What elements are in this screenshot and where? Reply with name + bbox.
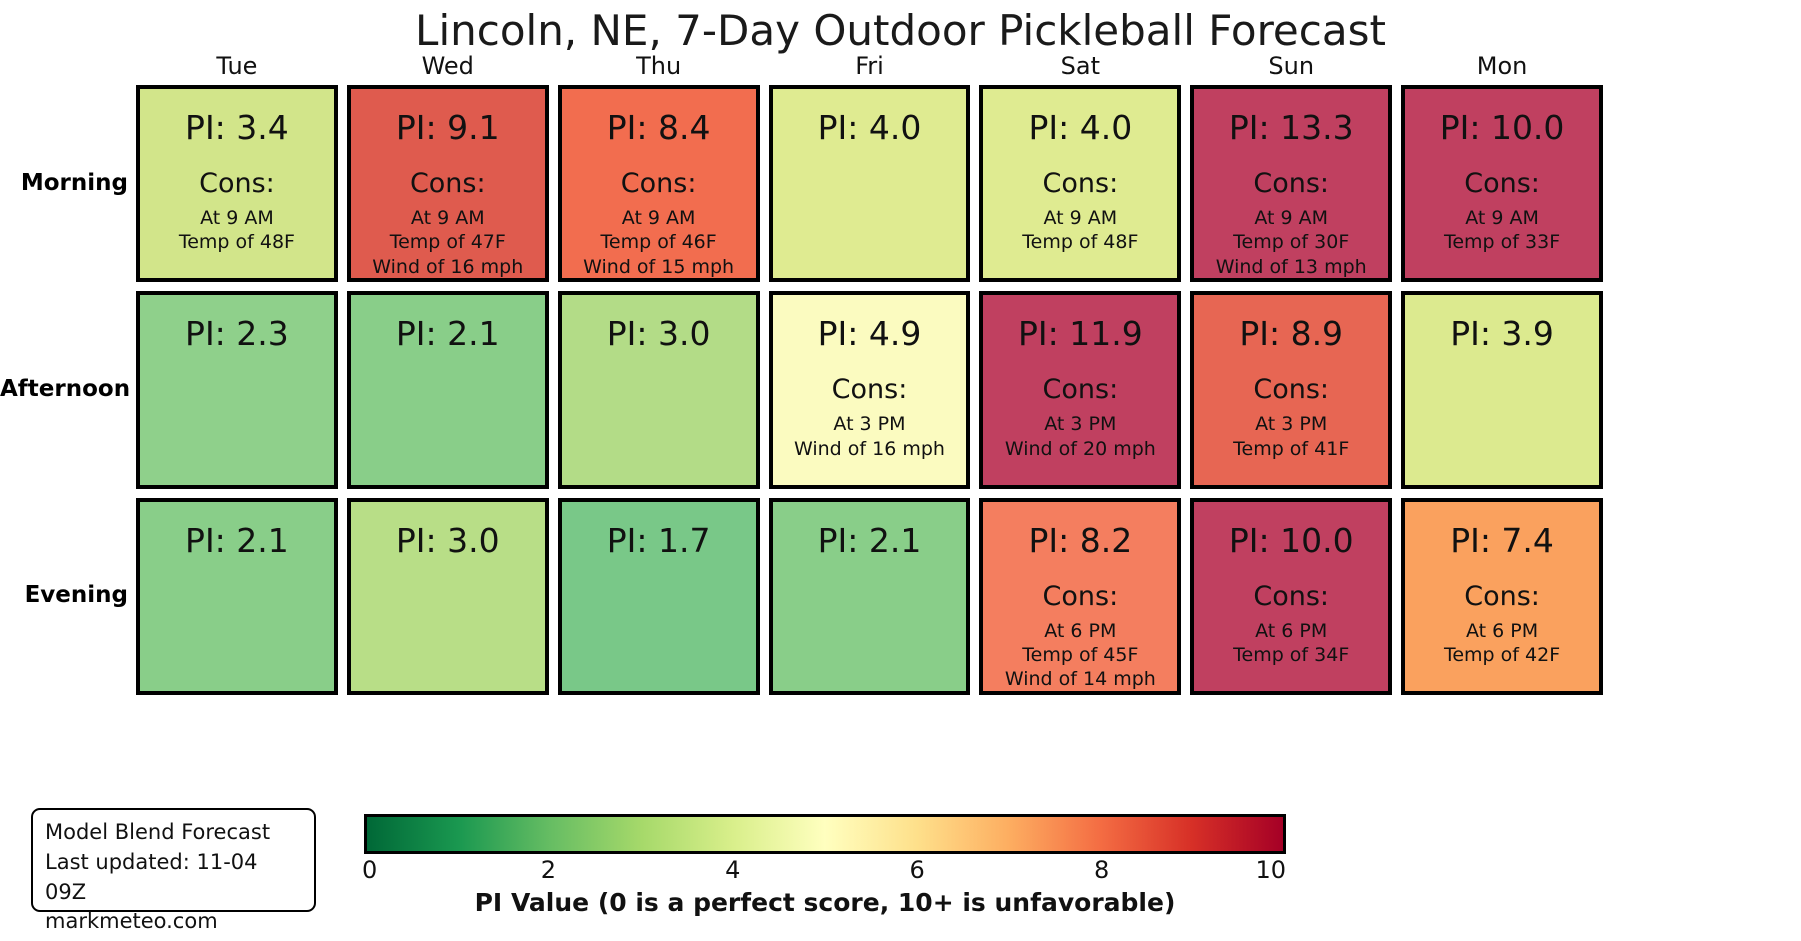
- forecast-cell[interactable]: PI: 3.4Cons:At 9 AMTemp of 48F: [136, 85, 338, 282]
- cell-cons-line: Temp of 34F: [1233, 643, 1349, 667]
- column-header-mon: Mon: [1401, 52, 1603, 80]
- cell-pi-value: PI: 8.2: [1028, 524, 1132, 557]
- colorbar-tick-2: 2: [541, 856, 556, 884]
- cell-cons-line: At 3 PM: [794, 412, 945, 436]
- cell-pi-value: PI: 2.1: [396, 317, 500, 350]
- cell-cons-line: Temp of 46F: [583, 230, 734, 254]
- cell-cons-line: Temp of 47F: [372, 230, 523, 254]
- cell-pi-value: PI: 11.9: [1018, 317, 1143, 350]
- cell-pi-value: PI: 4.0: [1028, 111, 1132, 144]
- cell-cons-line: At 9 AM: [1022, 206, 1138, 230]
- cell-cons-line: At 3 PM: [1233, 412, 1349, 436]
- cell-cons-line: Temp of 48F: [1022, 230, 1138, 254]
- cell-cons-lines: At 6 PMTemp of 34F: [1233, 619, 1349, 668]
- cell-cons-line: At 6 PM: [1233, 619, 1349, 643]
- cell-cons-line: Wind of 16 mph: [794, 437, 945, 461]
- row-header-morning: Morning: [0, 170, 128, 196]
- colorbar-tick-10: 10: [1255, 856, 1286, 884]
- cell-cons-line: Wind of 13 mph: [1216, 255, 1367, 279]
- cell-cons-lines: At 6 PMTemp of 42F: [1444, 619, 1560, 668]
- cell-cons-title: Cons:: [1464, 170, 1540, 197]
- cell-cons-line: Temp of 33F: [1444, 230, 1560, 254]
- column-header-thu: Thu: [558, 52, 760, 80]
- column-header-wed: Wed: [347, 52, 549, 80]
- forecast-cell[interactable]: PI: 2.1: [769, 498, 971, 695]
- cell-cons-title: Cons:: [832, 376, 908, 403]
- cell-cons-title: Cons:: [1464, 583, 1540, 610]
- forecast-cell[interactable]: PI: 1.7: [558, 498, 760, 695]
- cell-pi-value: PI: 3.0: [607, 317, 711, 350]
- forecast-cell[interactable]: PI: 4.0Cons:At 9 AMTemp of 48F: [979, 85, 1181, 282]
- cell-cons-line: Temp of 30F: [1216, 230, 1367, 254]
- forecast-cell[interactable]: PI: 11.9Cons:At 3 PMWind of 20 mph: [979, 291, 1181, 488]
- cell-cons-line: Wind of 20 mph: [1005, 437, 1156, 461]
- cell-cons-line: Temp of 42F: [1444, 643, 1560, 667]
- forecast-cell[interactable]: PI: 3.9: [1401, 291, 1603, 488]
- colorbar-gradient: [364, 814, 1286, 854]
- cell-pi-value: PI: 10.0: [1229, 524, 1354, 557]
- cell-pi-value: PI: 8.4: [607, 111, 711, 144]
- forecast-cell[interactable]: PI: 13.3Cons:At 9 AMTemp of 30FWind of 1…: [1190, 85, 1392, 282]
- forecast-cell[interactable]: PI: 8.2Cons:At 6 PMTemp of 45FWind of 14…: [979, 498, 1181, 695]
- cell-cons-line: At 6 PM: [1005, 619, 1156, 643]
- cell-cons-line: At 9 AM: [583, 206, 734, 230]
- cell-cons-lines: At 9 AMTemp of 46FWind of 15 mph: [583, 206, 734, 279]
- cell-pi-value: PI: 3.0: [396, 524, 500, 557]
- cell-pi-value: PI: 1.7: [607, 524, 711, 557]
- forecast-cell[interactable]: PI: 7.4Cons:At 6 PMTemp of 42F: [1401, 498, 1603, 695]
- column-header-sat: Sat: [979, 52, 1181, 80]
- forecast-cell[interactable]: PI: 2.1: [347, 291, 549, 488]
- colorbar-tick-4: 4: [725, 856, 740, 884]
- cell-pi-value: PI: 13.3: [1229, 111, 1354, 144]
- cell-cons-line: At 9 AM: [1216, 206, 1367, 230]
- cell-cons-title: Cons:: [1253, 376, 1329, 403]
- forecast-cell[interactable]: PI: 10.0Cons:At 9 AMTemp of 33F: [1401, 85, 1603, 282]
- forecast-cell[interactable]: PI: 8.9Cons:At 3 PMTemp of 41F: [1190, 291, 1392, 488]
- row-header-evening: Evening: [0, 582, 128, 608]
- column-header-tue: Tue: [136, 52, 338, 80]
- cell-cons-lines: At 9 AMTemp of 33F: [1444, 206, 1560, 255]
- cell-cons-line: Temp of 48F: [179, 230, 295, 254]
- cell-pi-value: PI: 2.3: [185, 317, 289, 350]
- cell-cons-line: Temp of 41F: [1233, 437, 1349, 461]
- cell-cons-line: At 9 AM: [372, 206, 523, 230]
- cell-pi-value: PI: 7.4: [1450, 524, 1554, 557]
- cell-cons-lines: At 3 PMWind of 20 mph: [1005, 412, 1156, 461]
- cell-cons-title: Cons:: [1253, 170, 1329, 197]
- forecast-grid: TueWedThuFriSatSunMonMorningAfternoonEve…: [136, 85, 1603, 695]
- cell-cons-title: Cons:: [410, 170, 486, 197]
- cell-cons-title: Cons:: [199, 170, 275, 197]
- cell-cons-line: Wind of 14 mph: [1005, 667, 1156, 691]
- cell-cons-line: Wind of 16 mph: [372, 255, 523, 279]
- cell-cons-line: At 9 AM: [1444, 206, 1560, 230]
- colorbar-container: 0246810 PI Value (0 is a perfect score, …: [364, 814, 1286, 917]
- cell-cons-lines: At 9 AMTemp of 48F: [1022, 206, 1138, 255]
- cell-pi-value: PI: 4.9: [818, 317, 922, 350]
- cell-pi-value: PI: 10.0: [1440, 111, 1565, 144]
- colorbar-tick-8: 8: [1094, 856, 1109, 884]
- forecast-cell[interactable]: PI: 2.3: [136, 291, 338, 488]
- forecast-cell[interactable]: PI: 4.9Cons:At 3 PMWind of 16 mph: [769, 291, 971, 488]
- page-title: Lincoln, NE, 7-Day Outdoor Pickleball Fo…: [0, 6, 1801, 55]
- column-header-sun: Sun: [1190, 52, 1392, 80]
- row-header-afternoon: Afternoon: [0, 376, 128, 402]
- cell-cons-title: Cons:: [1043, 583, 1119, 610]
- cell-cons-lines: At 3 PMTemp of 41F: [1233, 412, 1349, 461]
- info-site-line: markmeteo.com: [45, 907, 302, 937]
- cell-cons-title: Cons:: [1043, 376, 1119, 403]
- forecast-cell[interactable]: PI: 3.0: [558, 291, 760, 488]
- cell-pi-value: PI: 3.4: [185, 111, 289, 144]
- cell-cons-line: Wind of 15 mph: [583, 255, 734, 279]
- colorbar-tick-0: 0: [362, 856, 377, 884]
- cell-pi-value: PI: 4.0: [818, 111, 922, 144]
- cell-cons-line: At 3 PM: [1005, 412, 1156, 436]
- cell-cons-title: Cons:: [1043, 170, 1119, 197]
- forecast-cell[interactable]: PI: 8.4Cons:At 9 AMTemp of 46FWind of 15…: [558, 85, 760, 282]
- cell-cons-lines: At 9 AMTemp of 30FWind of 13 mph: [1216, 206, 1367, 279]
- cell-cons-line: Temp of 45F: [1005, 643, 1156, 667]
- colorbar-tick-6: 6: [910, 856, 925, 884]
- cell-pi-value: PI: 8.9: [1239, 317, 1343, 350]
- info-box: Model Blend Forecast Last updated: 11-04…: [31, 808, 316, 912]
- column-header-fri: Fri: [769, 52, 971, 80]
- cell-cons-line: At 6 PM: [1444, 619, 1560, 643]
- forecast-cell[interactable]: PI: 4.0: [769, 85, 971, 282]
- info-updated-line: Last updated: 11-04 09Z: [45, 848, 302, 908]
- cell-cons-lines: At 9 AMTemp of 48F: [179, 206, 295, 255]
- info-model-line: Model Blend Forecast: [45, 818, 302, 848]
- cell-pi-value: PI: 2.1: [185, 524, 289, 557]
- cell-cons-title: Cons:: [1253, 583, 1329, 610]
- cell-cons-title: Cons:: [621, 170, 697, 197]
- cell-cons-line: At 9 AM: [179, 206, 295, 230]
- forecast-cell[interactable]: PI: 9.1Cons:At 9 AMTemp of 47FWind of 16…: [347, 85, 549, 282]
- forecast-figure: Lincoln, NE, 7-Day Outdoor Pickleball Fo…: [0, 0, 1801, 941]
- forecast-cell[interactable]: PI: 10.0Cons:At 6 PMTemp of 34F: [1190, 498, 1392, 695]
- colorbar-ticks: 0246810: [364, 854, 1286, 884]
- cell-pi-value: PI: 3.9: [1450, 317, 1554, 350]
- cell-pi-value: PI: 9.1: [396, 111, 500, 144]
- colorbar-label: PI Value (0 is a perfect score, 10+ is u…: [364, 888, 1286, 917]
- forecast-cell[interactable]: PI: 3.0: [347, 498, 549, 695]
- cell-cons-lines: At 3 PMWind of 16 mph: [794, 412, 945, 461]
- cell-pi-value: PI: 2.1: [818, 524, 922, 557]
- cell-cons-lines: At 9 AMTemp of 47FWind of 16 mph: [372, 206, 523, 279]
- forecast-cell[interactable]: PI: 2.1: [136, 498, 338, 695]
- cell-cons-lines: At 6 PMTemp of 45FWind of 14 mph: [1005, 619, 1156, 692]
